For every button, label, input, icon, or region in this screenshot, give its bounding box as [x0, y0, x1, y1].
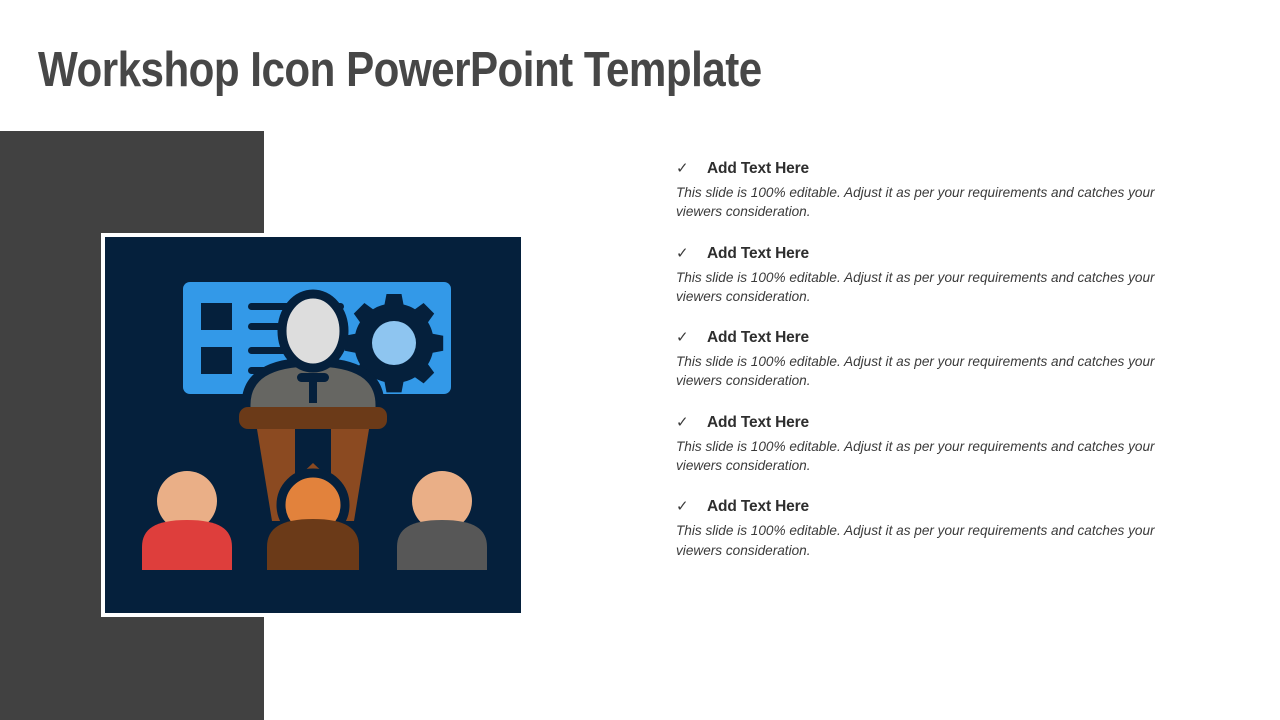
list-item-heading: Add Text Here — [707, 329, 809, 347]
check-icon: ✓ — [676, 246, 707, 261]
check-icon: ✓ — [676, 415, 707, 430]
list-item-body: This slide is 100% editable. Adjust it a… — [676, 183, 1188, 222]
check-icon: ✓ — [676, 161, 707, 176]
audience-member-left — [142, 471, 232, 570]
list-item: ✓ Add Text Here This slide is 100% edita… — [676, 329, 1196, 391]
list-item-heading: Add Text Here — [707, 160, 809, 178]
list-item-body: This slide is 100% editable. Adjust it a… — [676, 352, 1188, 391]
list-item-body: This slide is 100% editable. Adjust it a… — [676, 437, 1188, 476]
list-item: ✓ Add Text Here This slide is 100% edita… — [676, 498, 1196, 560]
list-item-body: This slide is 100% editable. Adjust it a… — [676, 268, 1188, 307]
list-item-heading: Add Text Here — [707, 245, 809, 263]
list-item: ✓ Add Text Here This slide is 100% edita… — [676, 245, 1196, 307]
list-item-body: This slide is 100% editable. Adjust it a… — [676, 521, 1188, 560]
list-item: ✓ Add Text Here This slide is 100% edita… — [676, 414, 1196, 476]
illustration-frame — [101, 233, 525, 617]
workshop-presentation-icon — [105, 237, 521, 613]
page-title: Workshop Icon PowerPoint Template — [38, 44, 762, 98]
list-item-heading: Add Text Here — [707, 498, 809, 516]
audience-member-right — [397, 471, 487, 570]
check-icon: ✓ — [676, 499, 707, 514]
audience-row — [142, 471, 487, 570]
bullet-list: ✓ Add Text Here This slide is 100% edita… — [676, 160, 1196, 560]
check-icon: ✓ — [676, 330, 707, 345]
list-item-heading: Add Text Here — [707, 414, 809, 432]
list-item: ✓ Add Text Here This slide is 100% edita… — [676, 160, 1196, 222]
